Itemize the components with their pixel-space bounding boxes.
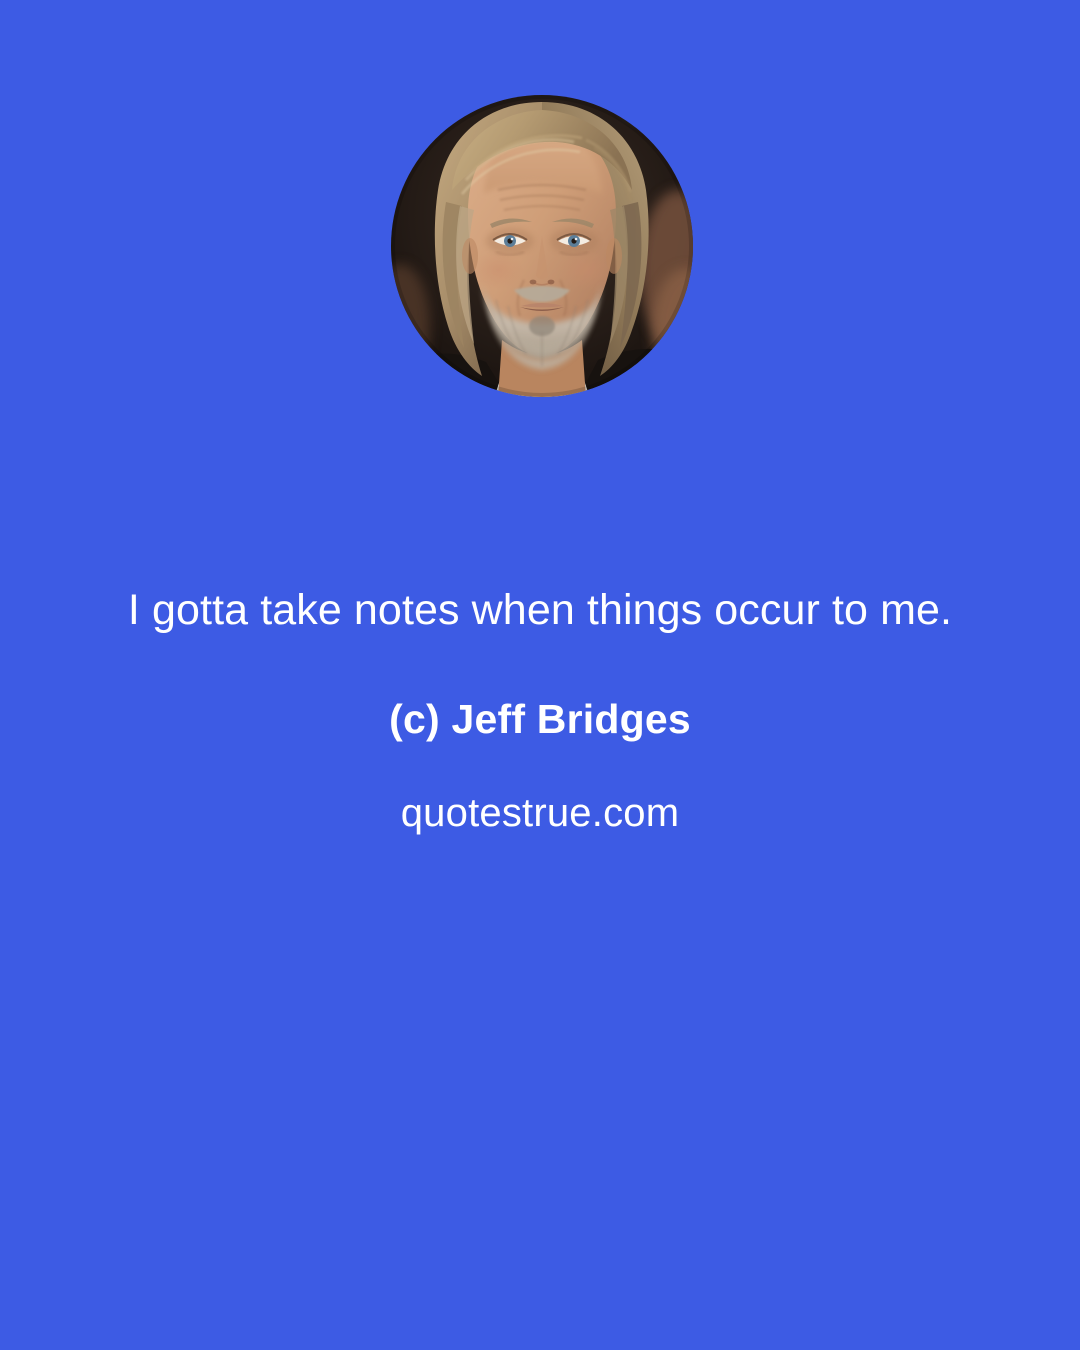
portrait-image bbox=[390, 94, 694, 398]
quote-author: (c) Jeff Bridges bbox=[90, 694, 990, 744]
quote-body: I gotta take notes when things occur to … bbox=[90, 560, 990, 660]
quote-text-block: I gotta take notes when things occur to … bbox=[0, 560, 1080, 838]
site-watermark: quotestrue.com bbox=[90, 788, 990, 838]
quote-card: I gotta take notes when things occur to … bbox=[0, 0, 1080, 1350]
portrait-avatar bbox=[390, 94, 694, 398]
